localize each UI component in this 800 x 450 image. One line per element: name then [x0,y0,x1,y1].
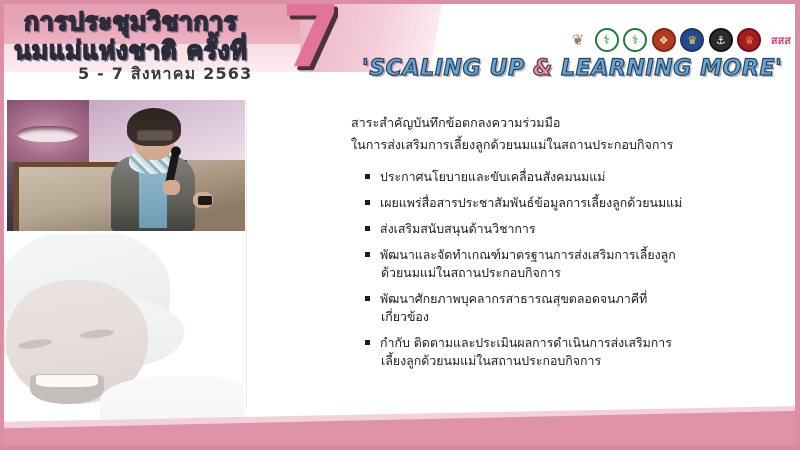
frame-border-left [0,0,4,450]
conference-date: 5 - 7 สิงหาคม 2563 [78,62,252,87]
university-crest-logo-icon: ♛ [680,28,704,52]
bullet-text-line1: พัฒนาและจัดทำเกณฑ์มาตรฐานการส่งเสริมการเ… [380,247,676,262]
content-heading-line1: สาระสำคัญบันทึกข้อตกลงความร่วมมือ [351,112,771,134]
bullet-text-line1: พัฒนาศักยภาพบุคลากรสาธารณสุขตลอดจนภาคีที… [380,291,647,306]
tagline-ampersand: & [533,56,553,81]
royal-emblem-logo-icon: ❖ [652,28,676,52]
speaker-glasses [137,130,173,141]
frame-border-top [0,0,800,4]
agreement-bullet-list: ประกาศนโยบายและขับเคลื่อนสังคมนมแม่ เผยแ… [365,168,765,378]
child-watermark-image [4,234,244,419]
sponsor-logo-strip: ❦ ⚕ ⚕ ❖ ♛ ⚓ ♕ สสส [566,25,796,55]
red-seal-logo-icon: ♕ [737,28,761,52]
content-heading: สาระสำคัญบันทึกข้อตกลงความร่วมมือ ในการส… [351,112,771,157]
list-item: กำกับ ติดตามและประเมินผลการดำเนินการส่งเ… [365,334,765,371]
conference-tagline: 'SCALING UP & LEARNING MORE' [362,56,792,81]
black-seal-logo-icon: ⚓ [709,28,733,52]
list-item: เผยแพร่สื่อสารประชาสัมพันธ์ข้อมูลการเลี้… [365,194,765,212]
bullet-text-line2: เกี่ยวข้อง [380,308,765,326]
slide-content-panel: สาระสำคัญบันทึกข้อตกลงความร่วมมือ ในการส… [246,98,785,410]
list-item: ส่งเสริมสนับสนุนด้านวิชาการ [365,220,765,238]
edition-number: 7 [281,0,339,80]
bullet-text-line1: ส่งเสริมสนับสนุนด้านวิชาการ [380,221,536,236]
tagline-prefix: 'SCALING UP [362,56,533,81]
bullet-text-line2: ด้วยนมแม่ในสถานประกอบกิจการ [380,264,765,282]
list-item: พัฒนาและจัดทำเกณฑ์มาตรฐานการส่งเสริมการเ… [365,246,765,283]
content-heading-line2: ในการส่งเสริมการเลี้ยงลูกด้วยนมแม่ในสถาน… [351,134,771,156]
thaihealth-sss-logo-icon: สสส [766,28,796,52]
speaker-video-thumbnail[interactable] [7,100,245,231]
speaker-shirt [139,170,167,228]
ministry-of-public-health-logo-icon: ⚕ [595,28,619,52]
list-item: พัฒนาศักยภาพบุคลากรสาธารณสุขตลอดจนภาคีที… [365,290,765,327]
tagline-suffix: LEARNING MORE' [553,56,783,81]
bullet-text-line2: เลี้ยงลูกด้วยนมแม่ในสถานประกอบกิจการ [380,352,765,370]
frame-border-bottom [0,445,800,450]
department-of-health-logo-icon: ⚕ [623,28,647,52]
list-item: ประกาศนโยบายและขับเคลื่อนสังคมนมแม่ [365,168,765,186]
mother-and-child-logo-icon: ❦ [566,28,590,52]
presenter-clicker [198,196,212,205]
child-teeth [36,375,98,387]
child-shoulder [100,376,244,419]
speaker-hand-left [163,180,180,195]
bullet-text-line1: กำกับ ติดตามและประเมินผลการดำเนินการส่งเ… [380,335,672,350]
frame-border-right [795,0,800,450]
backdrop-mouth-art [7,100,95,162]
presentation-slide: 7 การประชุมวิชาการ นมแม่แห่งชาติ ครั้งที… [0,0,800,450]
bullet-text-line1: ประกาศนโยบายและขับเคลื่อนสังคมนมแม่ [380,169,605,184]
bullet-text-line1: เผยแพร่สื่อสารประชาสัมพันธ์ข้อมูลการเลี้… [380,195,682,210]
